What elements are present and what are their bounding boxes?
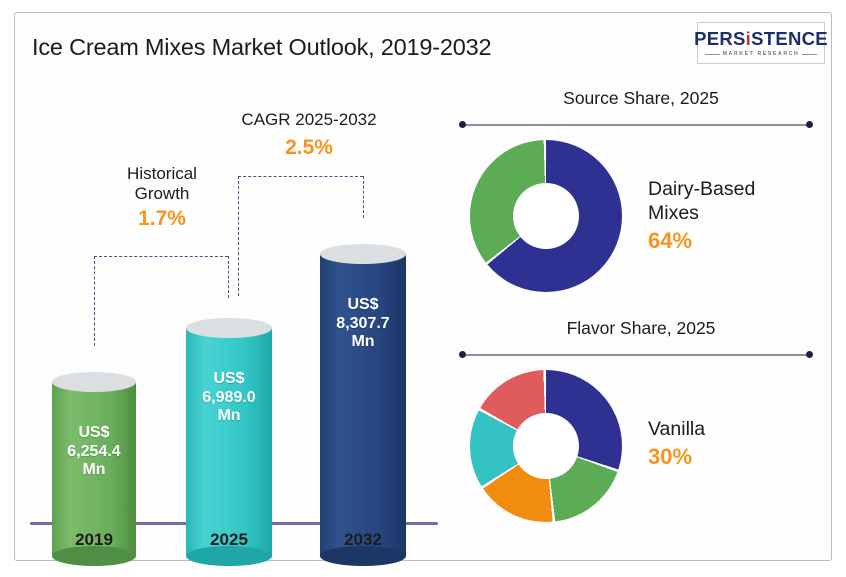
source-share-donut[interactable] <box>470 140 622 292</box>
axis-label-2025: 2025 <box>169 530 289 550</box>
bar-2032-value: US$ 8,307.7 Mn <box>320 296 406 352</box>
flavor-share-donut-hole <box>513 413 579 479</box>
logo-text-part1: PERS <box>694 28 746 49</box>
bar-2019-value: US$ 6,254.4 Mn <box>52 424 136 480</box>
source-share-donut-hole <box>513 183 579 249</box>
logo-wordmark: PERSiSTENCE <box>694 30 828 49</box>
flavor-share-title: Flavor Share, 2025 <box>452 318 830 339</box>
flavor-share-legend: Vanilla 30% <box>648 418 824 470</box>
bar-chart-panel: US$ 6,254.4 Mn 2019 US$ 6,989.0 Mn 2025 … <box>14 78 444 556</box>
infographic-root: Ice Cream Mixes Market Outlook, 2019-203… <box>0 0 846 577</box>
cagr-value: 2.5% <box>219 136 399 160</box>
page-title: Ice Cream Mixes Market Outlook, 2019-203… <box>32 34 592 61</box>
bar-2019-value-line1: US$ <box>52 424 136 443</box>
flavor-share-donut[interactable] <box>470 370 622 522</box>
bar-2019-top-ellipse <box>52 372 136 392</box>
source-share-legend-line1: Dairy-Based <box>648 178 824 202</box>
bar-2032-value-line2: 8,307.7 <box>320 315 406 334</box>
historical-bracket-right <box>228 256 229 298</box>
bar-2025-top-ellipse <box>186 318 272 338</box>
bar-2032-top-ellipse <box>320 244 406 264</box>
bar-2025-value-line2: 6,989.0 <box>186 389 272 408</box>
historical-growth-annotation: Historical Growth 1.7% <box>92 164 232 231</box>
source-share-panel: Source Share, 2025 Dairy-Based Mixes 64% <box>452 88 830 310</box>
flavor-share-legend-value: 30% <box>648 444 824 470</box>
bar-2025-value-line3: Mn <box>186 407 272 426</box>
bar-2025[interactable]: US$ 6,989.0 Mn <box>186 328 272 556</box>
flavor-share-legend-line1: Vanilla <box>648 418 824 442</box>
bar-2032-value-line3: Mn <box>320 333 406 352</box>
source-share-divider <box>462 124 810 126</box>
bar-2025-body <box>186 328 272 556</box>
source-share-legend-line2: Mixes <box>648 202 824 226</box>
bar-2032-value-line1: US$ <box>320 296 406 315</box>
divider-dot-right-icon <box>806 121 813 128</box>
source-share-title: Source Share, 2025 <box>452 88 830 109</box>
persistence-market-research-logo: PERSiSTENCE MARKET RESEARCH <box>697 22 825 64</box>
axis-label-2032: 2032 <box>303 530 423 550</box>
cagr-label: CAGR 2025-2032 <box>219 110 399 130</box>
cagr-bracket-left <box>238 176 239 296</box>
logo-tagline-row: MARKET RESEARCH <box>705 51 817 57</box>
divider-dot-left-icon <box>459 351 466 358</box>
bar-2025-value-line1: US$ <box>186 370 272 389</box>
source-share-legend-value: 64% <box>648 228 824 254</box>
flavor-share-panel: Flavor Share, 2025 Vanilla 30% <box>452 318 830 548</box>
historical-bracket-left <box>94 256 95 346</box>
cagr-bracket-top <box>238 176 363 177</box>
cagr-bracket-right <box>363 176 364 218</box>
bar-2025-value: US$ 6,989.0 Mn <box>186 370 272 426</box>
logo-text-part2: STENCE <box>751 28 828 49</box>
source-share-legend: Dairy-Based Mixes 64% <box>648 178 824 254</box>
logo-rule-left <box>705 54 720 55</box>
logo-tagline: MARKET RESEARCH <box>723 51 800 57</box>
divider-dot-right-icon <box>806 351 813 358</box>
bar-2019-value-line3: Mn <box>52 461 136 480</box>
historical-growth-label-line1: Historical <box>92 164 232 184</box>
axis-label-2019: 2019 <box>34 530 154 550</box>
historical-bracket-top <box>94 256 228 257</box>
divider-dot-left-icon <box>459 121 466 128</box>
cagr-annotation: CAGR 2025-2032 2.5% <box>219 110 399 160</box>
logo-rule-right <box>802 54 817 55</box>
bar-2019-value-line2: 6,254.4 <box>52 443 136 462</box>
bar-2032[interactable]: US$ 8,307.7 Mn <box>320 254 406 556</box>
historical-growth-value: 1.7% <box>92 207 232 231</box>
historical-growth-label-line2: Growth <box>92 184 232 204</box>
flavor-share-divider <box>462 354 810 356</box>
